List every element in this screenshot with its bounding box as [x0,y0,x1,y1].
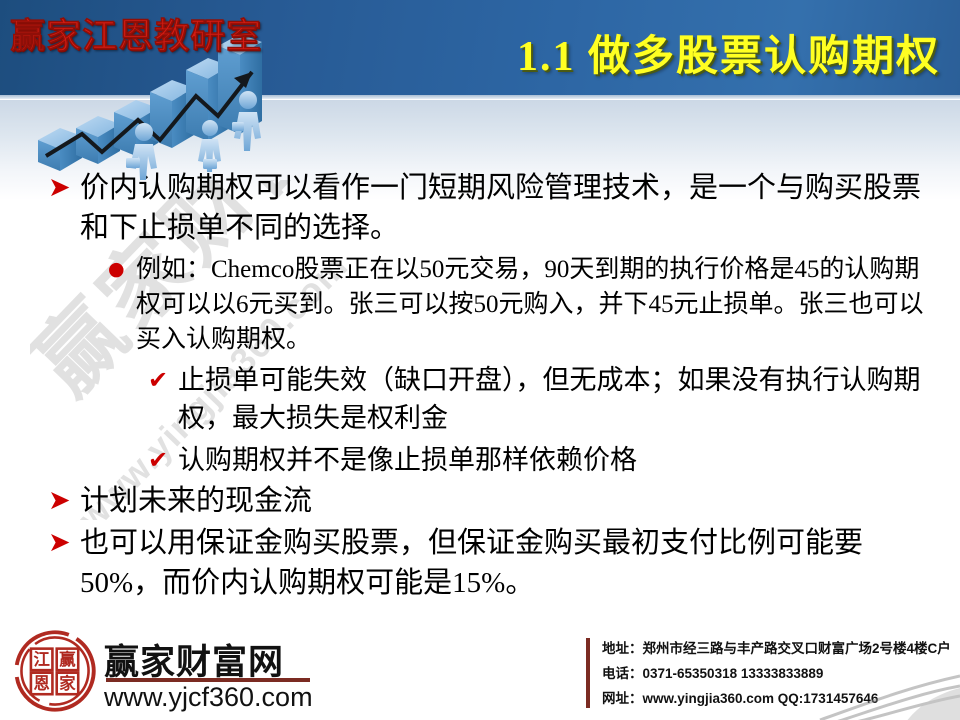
arrow-bullet-icon: ➤ [48,481,80,521]
seal-char-2: 恩 [34,674,50,693]
bullet-text: 也可以用保证金购买股票，但保证金购买最初支付比例可能要50%，而价内认购期权可能… [80,523,930,603]
seal-char-0: 江 [34,650,50,669]
slide-footer: 江 赢 恩 家 赢家财富网 www.yjcf360.com 地址：郑州市经三路与… [0,620,960,720]
slide-content: ➤ 价内认购期权可以看作一门短期风险管理技术，是一个与购买股票和下止损单不同的选… [0,168,960,598]
bullet-level1: ➤ 计划未来的现金流 [0,481,960,521]
seal-char-1: 赢 [59,650,76,669]
presentation-slide: 赢家财富网 www.yingjia360.com [0,0,960,720]
seal-char-3: 家 [59,674,76,693]
circular-red-seal-icon: 江 赢 恩 家 [12,628,98,714]
bullet-level1: ➤ 也可以用保证金购买股票，但保证金购买最初支付比例可能要50%，而价内认购期权… [0,523,960,603]
check-bullet-icon: ✔ [148,361,178,399]
dot-bullet-icon: ● [108,252,136,287]
arrow-bullet-icon: ➤ [48,523,80,563]
footer-brand-url: www.yjcf360.com [104,682,313,713]
bullet-level3: ✔ 认购期权并不是像止损单那样依赖价格 [0,441,960,479]
bullet-text: 例如：Chemco股票正在以50元交易，90天到期的执行价格是45的认购期权可以… [136,252,930,357]
check-bullet-icon: ✔ [148,441,178,479]
bullet-level3: ✔ 止损单可能失效（缺口开盘），但无成本；如果没有执行认购期权，最大损失是权利金 [0,361,960,437]
footer-address: 地址：郑州市经三路与丰产路交叉口财富广场2号楼4楼C户 [602,636,952,661]
bullet-text: 止损单可能失效（缺口开盘），但无成本；如果没有执行认购期权，最大损失是权利金 [178,361,930,437]
bullet-text: 认购期权并不是像止损单那样依赖价格 [178,441,637,479]
brand-logo-text: 赢家江恩教研室 [10,8,262,59]
footer-divider [586,638,590,708]
swoosh-decoration-icon [810,666,960,720]
slide-title: 1.1 做多股票认购期权 [517,22,940,83]
bullet-text: 计划未来的现金流 [80,481,312,521]
bullet-level2: ● 例如：Chemco股票正在以50元交易，90天到期的执行价格是45的认购期权… [0,252,960,357]
